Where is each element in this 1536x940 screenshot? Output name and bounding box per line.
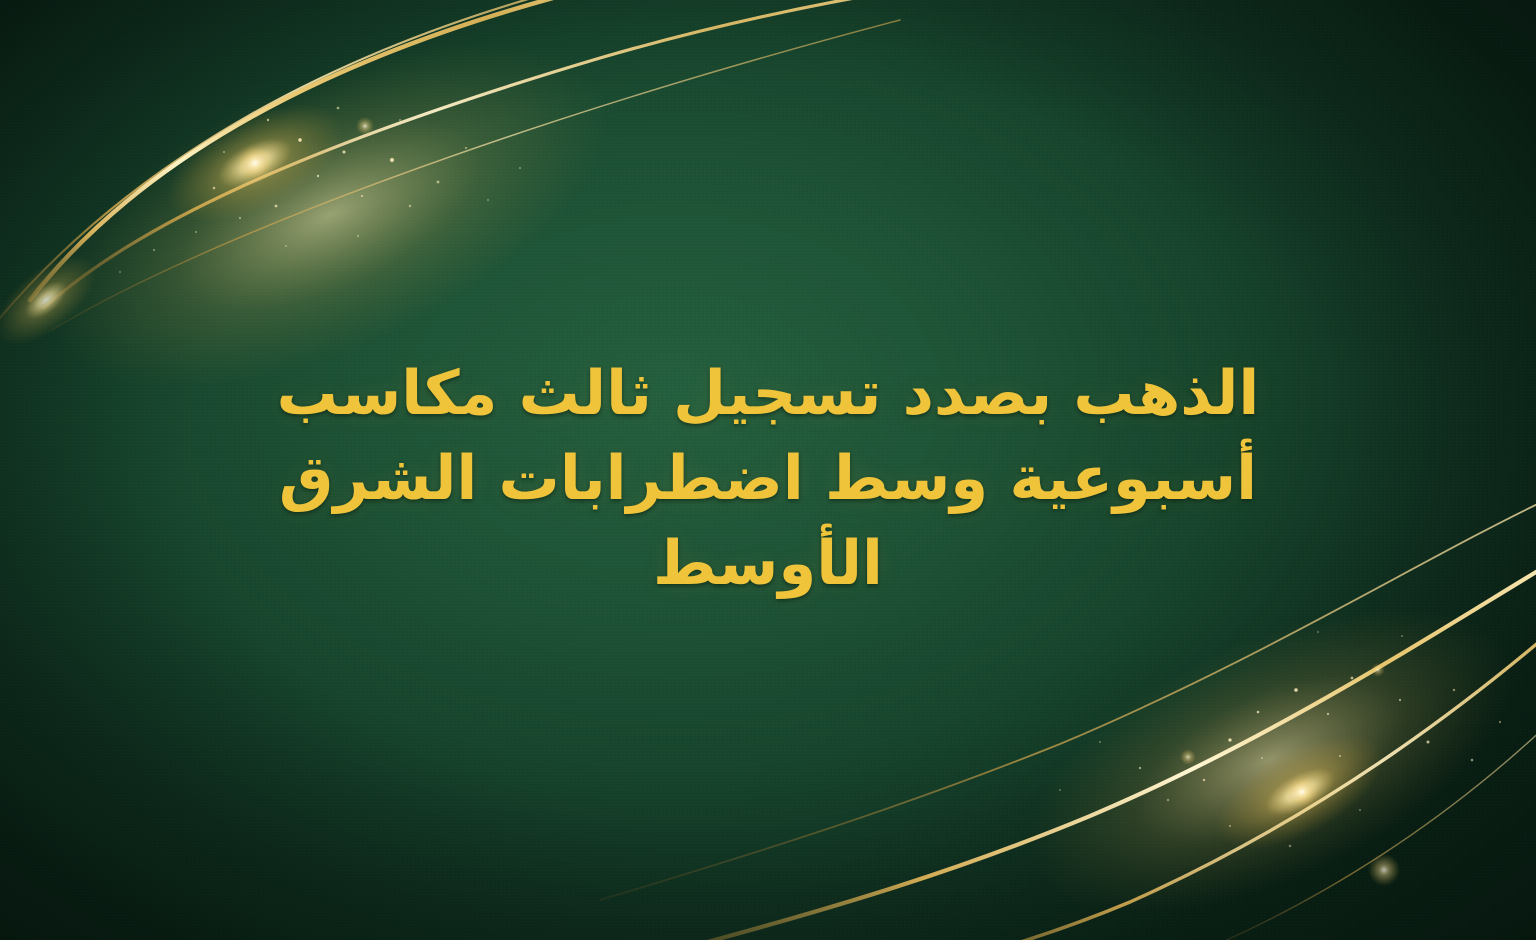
gold-arcs-top-left [0,0,1230,460]
gold-arc-layer [0,0,1536,940]
news-headline-card: الذهب بصدد تسجيل ثالث مكاسب أسبوعية وسط … [0,0,1536,940]
gold-arcs-bottom-right [600,500,1536,940]
